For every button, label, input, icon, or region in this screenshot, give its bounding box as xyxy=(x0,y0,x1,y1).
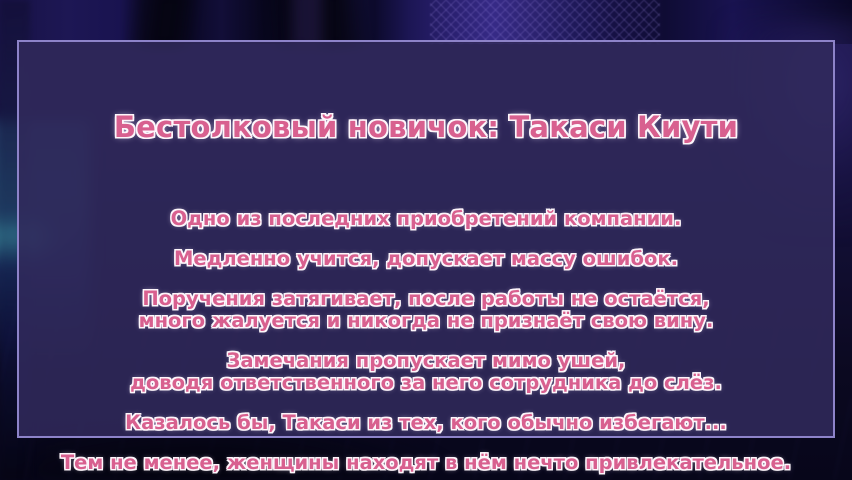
dialogue-line: доводя ответственного за него сотрудника… xyxy=(19,372,833,394)
game-screen: Бестолковый новичок: Такаси Киути Одно и… xyxy=(0,0,852,480)
dialogue-body: Одно из последних приобретений компании.… xyxy=(19,190,833,474)
dialogue-line: Тем не менее, женщины находят в нём нечт… xyxy=(19,452,833,474)
dialogue-line: Одно из последних приобретений компании. xyxy=(19,208,833,230)
background-lace-texture xyxy=(430,0,660,44)
character-title: Бестолковый новичок: Такаси Киути xyxy=(19,110,833,144)
dialogue-line: Поручения затягивает, после работы не ос… xyxy=(19,288,833,310)
dialogue-line: Замечания пропускает мимо ушей, xyxy=(19,350,833,372)
dialogue-line: Медленно учится, допускает массу ошибок. xyxy=(19,248,833,270)
dialogue-line: Казалось бы, Такаси из тех, кого обычно … xyxy=(19,412,833,434)
dialogue-line: много жалуется и никогда не признаёт сво… xyxy=(19,310,833,332)
dialogue-panel[interactable]: Бестолковый новичок: Такаси Киути Одно и… xyxy=(17,40,835,438)
